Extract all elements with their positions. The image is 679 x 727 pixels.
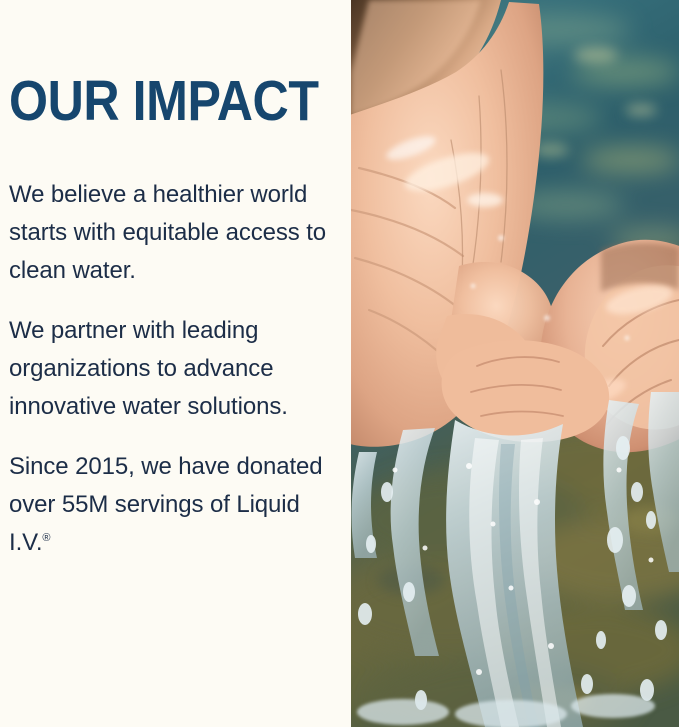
paragraph-mission: We believe a healthier world starts with…: [9, 176, 339, 290]
page-title: OUR IMPACT: [9, 72, 319, 130]
paragraph-impact-stat: Since 2015, we have donated over 55M ser…: [9, 448, 339, 562]
our-impact-panel: OUR IMPACT We believe a healthier world …: [0, 0, 679, 727]
body-copy: We believe a healthier world starts with…: [9, 176, 339, 562]
paragraph-partnerships: We partner with leading organizations to…: [9, 312, 339, 426]
impact-stat-text: Since 2015, we have donated over 55M ser…: [9, 453, 323, 556]
registered-trademark-icon: ®: [42, 532, 50, 544]
text-column: OUR IMPACT We believe a healthier world …: [0, 0, 351, 727]
hands-holding-water-photo: [351, 0, 679, 727]
